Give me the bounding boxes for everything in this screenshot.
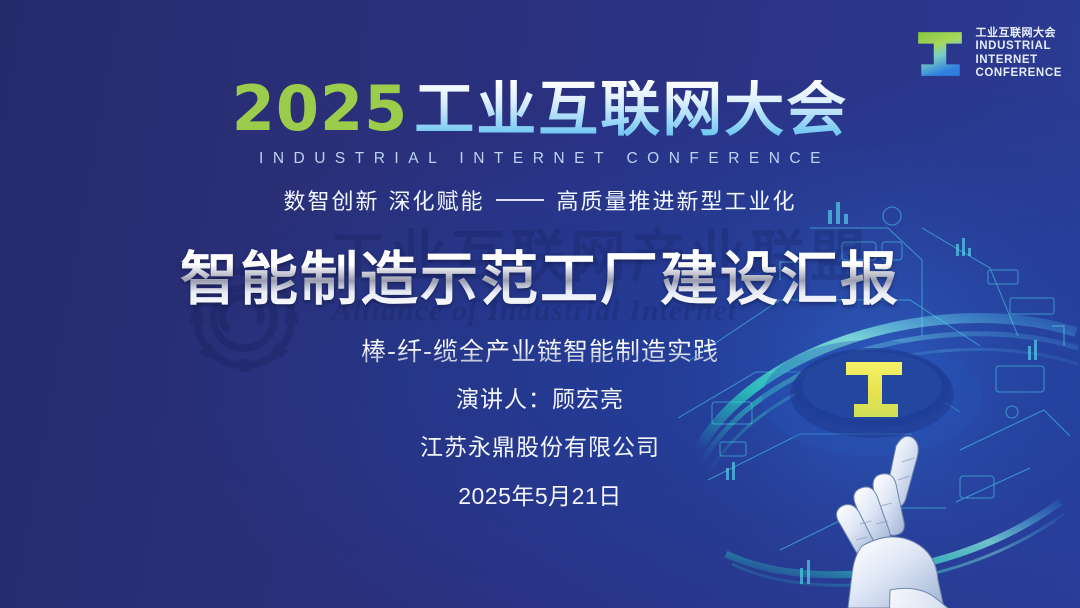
deck-meta: 演讲人：顾宏亮 江苏永鼎股份有限公司 2025年5月21日 bbox=[0, 389, 1080, 508]
tagline-left: 数智创新 深化赋能 bbox=[283, 184, 484, 216]
logo-cn-name: 工业互联网大会 bbox=[975, 27, 1062, 40]
event-lockup: 2025 工业互联网大会 INDUSTRIAL INTERNET CONFERE… bbox=[0, 78, 1080, 216]
logo-en-line1: INDUSTRIAL bbox=[975, 40, 1062, 54]
company-name: 江苏永鼎股份有限公司 bbox=[0, 437, 1080, 460]
deck-subtitle: 棒-纤-缆全产业链智能制造实践 bbox=[0, 337, 1080, 367]
event-year: 2025 bbox=[232, 78, 409, 140]
conference-logo-text: 工业互联网大会 INDUSTRIAL INTERNET CONFERENCE bbox=[975, 26, 1062, 81]
event-name-en: INDUSTRIAL INTERNET CONFERENCE bbox=[0, 150, 1080, 168]
speaker-name: 演讲人：顾宏亮 bbox=[0, 389, 1080, 412]
event-title-row: 2025 工业互联网大会 bbox=[232, 78, 849, 140]
presentation-date: 2025年5月21日 bbox=[0, 485, 1080, 508]
event-tagline: 数智创新 深化赋能 高质量推进新型工业化 bbox=[0, 184, 1080, 216]
tagline-divider bbox=[496, 199, 544, 201]
conference-logo: 工业互联网大会 INDUSTRIAL INTERNET CONFERENCE bbox=[914, 26, 1062, 81]
tagline-right: 高质量推进新型工业化 bbox=[556, 184, 796, 216]
page-title: 智能制造示范工厂建设汇报 bbox=[0, 248, 1080, 311]
presentation-title-slide: 工业互联网产业联盟 Alliance of Industrial Interne… bbox=[0, 0, 1080, 608]
deck-title-block: 智能制造示范工厂建设汇报 棒-纤-缆全产业链智能制造实践 演讲人：顾宏亮 江苏永… bbox=[0, 248, 1080, 508]
industrial-gong-mark-icon bbox=[914, 28, 966, 80]
logo-en-line2: INTERNET bbox=[975, 54, 1062, 68]
event-name-cn: 工业互联网大会 bbox=[414, 80, 848, 140]
